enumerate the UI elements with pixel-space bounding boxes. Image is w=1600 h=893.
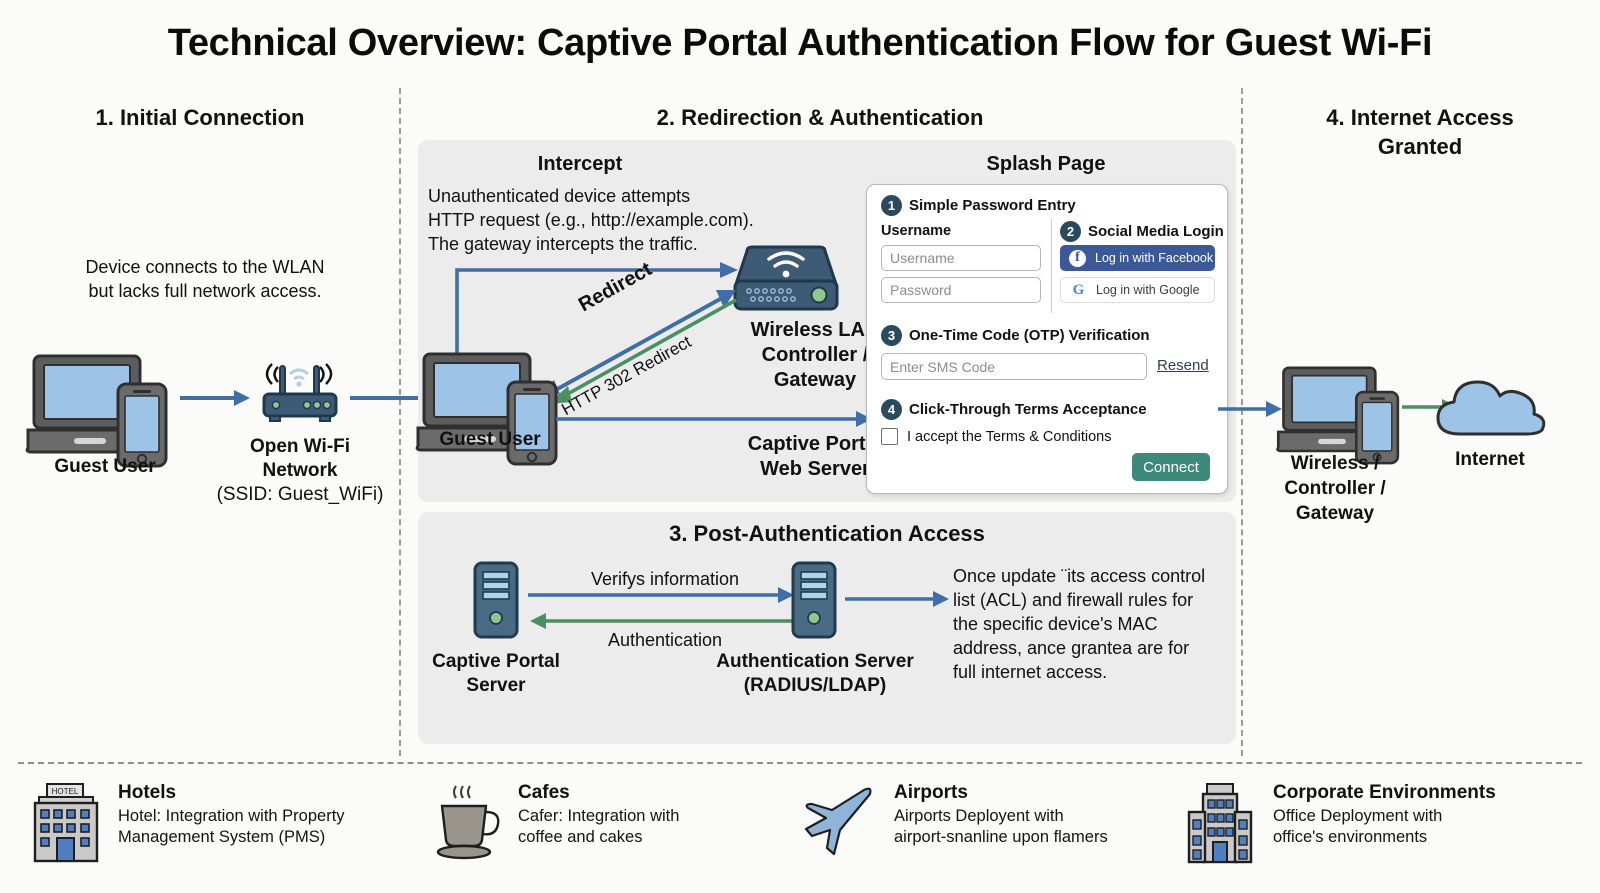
splash-page-card: 1 Simple Password Entry Username Usernam…	[866, 184, 1228, 494]
terms-checkbox-row[interactable]: I accept the Terms & Conditions	[881, 428, 1111, 445]
splash-column-separator	[1051, 219, 1052, 313]
facebook-login-button[interactable]: f Log in with Facebook	[1060, 245, 1215, 271]
arrow-to-acl-note	[845, 590, 951, 608]
usecase-hotels-desc-line1: Hotel: Integration with Property	[118, 806, 345, 827]
google-icon: G	[1070, 282, 1087, 299]
internet-cloud-icon	[1432, 372, 1550, 442]
hotel-building-icon: HOTEL	[30, 782, 102, 864]
password-input[interactable]: Password	[881, 277, 1041, 303]
usecase-corporate-desc-line2: office's environments	[1273, 827, 1496, 848]
intercept-line2: HTTP request (e.g., http://example.com).	[428, 209, 754, 233]
airplane-icon	[800, 782, 878, 864]
usecase-corporate-desc-line1: Office Deployment with	[1273, 806, 1496, 827]
facebook-login-label: Log in with Facebook	[1095, 251, 1213, 265]
auth-server-label-line2: (RADIUS/LDAP)	[700, 674, 930, 698]
step-3-title: One-Time Code (OTP) Verification	[909, 327, 1150, 344]
step-4-title: Click-Through Terms Acceptance	[909, 401, 1147, 418]
step-3-badge: 3	[881, 325, 902, 346]
office-building-icon	[1185, 782, 1257, 864]
facebook-icon: f	[1069, 250, 1086, 267]
usecase-cafes-desc-line1: Cafer: Integration with	[518, 806, 679, 827]
captive-portal-server-icon	[472, 560, 520, 640]
stage1-description-line1: Device connects to the WLAN	[40, 255, 370, 279]
stage4-device-icon	[1280, 362, 1410, 462]
guest-user-device-icon-1	[30, 352, 180, 462]
splash-step-2-row: 2 Social Media Login	[1060, 221, 1224, 242]
stage1-router-label-line2: Network	[205, 459, 395, 483]
google-login-label: Log in with Google	[1096, 283, 1200, 297]
step-2-badge: 2	[1060, 221, 1081, 242]
google-login-button[interactable]: G Log in with Google	[1060, 277, 1215, 303]
usecase-airports-desc-line2: airport-snanline upon flamers	[894, 827, 1108, 848]
open-wifi-router-icon	[252, 348, 346, 424]
auth-server-label-line1: Authentication Server	[700, 650, 930, 674]
acl-note-line5: full internet access.	[953, 661, 1107, 685]
acl-note-line3: the specific device's MAC	[953, 613, 1158, 637]
svg-text:HOTEL: HOTEL	[52, 787, 79, 796]
splash-step-3-row: 3 One-Time Code (OTP) Verification	[881, 325, 1150, 346]
stage1-router-label-line1: Open Wi-Fi	[205, 435, 395, 459]
arrow-splash-to-stage4	[1218, 400, 1284, 418]
usecase-airports-title: Airports	[894, 782, 1108, 804]
intercept-line3: The gateway intercepts the traffic.	[428, 233, 698, 257]
stage3-heading: 3. Post-Authentication Access	[470, 521, 1184, 547]
acl-note-line1: Once update ¨its access control	[953, 565, 1205, 589]
username-input[interactable]: Username	[881, 245, 1041, 271]
authentication-server-icon	[790, 560, 838, 640]
stage4-device-label-line3: Gateway	[1255, 502, 1415, 526]
verify-arrow-label: Verifys information	[540, 567, 790, 591]
arrow-to-captive-portal-webserver	[556, 410, 874, 428]
username-label: Username	[881, 223, 951, 239]
usecase-corporate: Corporate Environments Office Deployment…	[1185, 782, 1496, 864]
arrow-http302-down	[540, 296, 750, 408]
usecase-corporate-title: Corporate Environments	[1273, 782, 1496, 804]
column-header-4-line2: Granted	[1260, 132, 1580, 161]
arrow-device-to-router	[180, 388, 252, 408]
splash-step-1-row: 1 Simple Password Entry	[881, 195, 1076, 216]
terms-checkbox[interactable]	[881, 428, 898, 445]
stage1-router-label-line3: (SSID: Guest_WiFi)	[195, 483, 405, 507]
stage1-device-label: Guest User	[10, 455, 200, 479]
portal-server-label-line2: Server	[406, 674, 586, 698]
step-2-title: Social Media Login	[1088, 223, 1224, 240]
connect-button[interactable]: Connect	[1132, 453, 1210, 481]
stage1-description-line2: but lacks full network access.	[40, 279, 370, 303]
divider-column-2-4	[1241, 88, 1243, 756]
usecase-hotels-title: Hotels	[118, 782, 345, 804]
stage4-device-label-line2: Controller /	[1255, 477, 1415, 501]
column-header-1: 1. Initial Connection	[40, 103, 360, 132]
usecase-airports: Airports Airports Deployent with airport…	[800, 782, 1108, 864]
internet-label: Internet	[1410, 448, 1570, 472]
resend-link[interactable]: Resend	[1157, 357, 1209, 374]
step-1-badge: 1	[881, 195, 902, 216]
intercept-line1: Unauthenticated device attempts	[428, 185, 690, 209]
usecase-cafes-desc-line2: coffee and cakes	[518, 827, 679, 848]
column-header-2: 2. Redirection & Authentication	[480, 103, 1160, 132]
step-4-badge: 4	[881, 399, 902, 420]
usecase-cafes: Cafes Cafer: Integration with coffee and…	[430, 782, 679, 864]
divider-column-1-2	[399, 88, 401, 756]
splash-page-heading: Splash Page	[896, 153, 1196, 176]
portal-server-label-line1: Captive Portal	[406, 650, 586, 674]
page-title: Technical Overview: Captive Portal Authe…	[0, 22, 1600, 65]
usecase-hotels-desc-line2: Management System (PMS)	[118, 827, 345, 848]
step-1-title: Simple Password Entry	[909, 197, 1076, 214]
usecase-cafes-title: Cafes	[518, 782, 679, 804]
usecase-hotels: HOTEL Hotels Hotel: Integration with Pro…	[30, 782, 345, 864]
stage2-device-label: Guest User	[395, 428, 585, 452]
splash-step-4-row: 4 Click-Through Terms Acceptance	[881, 399, 1147, 420]
intercept-heading: Intercept	[430, 153, 730, 176]
acl-note-line2: list (ACL) and firewall rules for	[953, 589, 1193, 613]
usecase-airports-desc-line1: Airports Deployent with	[894, 806, 1108, 827]
coffee-cup-icon	[430, 782, 502, 864]
divider-footer	[18, 762, 1582, 764]
stage4-device-label-line1: Wireless /	[1255, 452, 1415, 476]
acl-note-line4: address, ance grantea are for	[953, 637, 1189, 661]
authentication-arrow-label: Authentication	[540, 628, 790, 652]
column-header-4-line1: 4. Internet Access	[1260, 103, 1580, 132]
otp-input[interactable]: Enter SMS Code	[881, 353, 1147, 380]
terms-label: I accept the Terms & Conditions	[907, 429, 1111, 445]
